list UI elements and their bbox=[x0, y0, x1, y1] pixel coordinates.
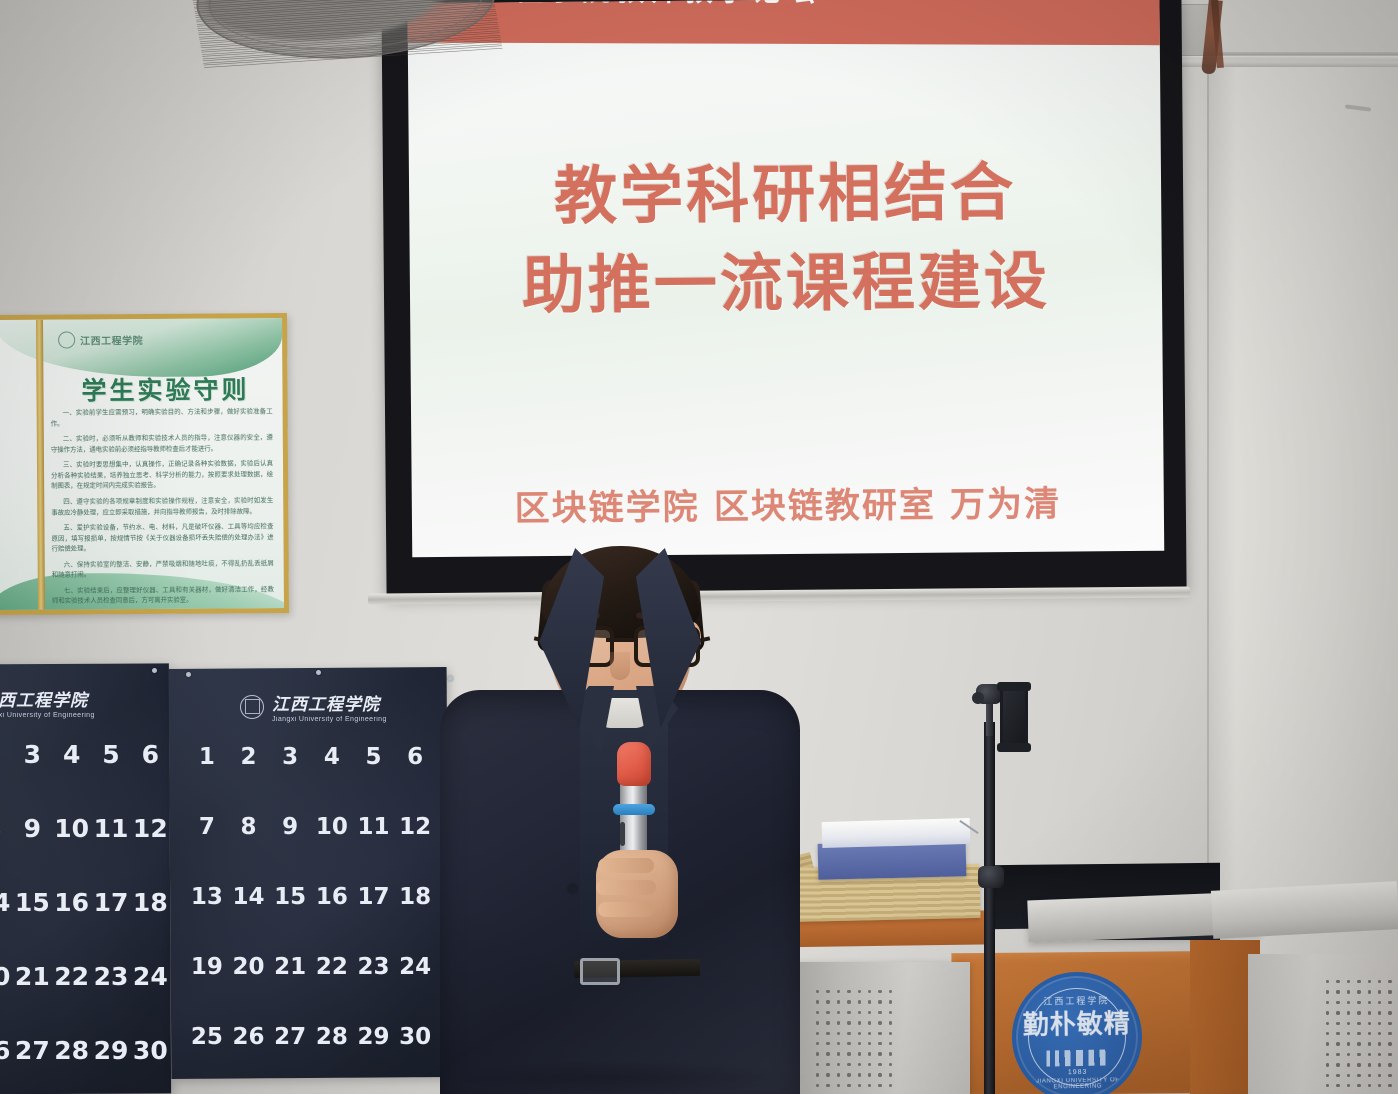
seat-number: 2 bbox=[228, 744, 270, 770]
nose bbox=[610, 652, 630, 680]
wall-mounting-rail-lower bbox=[1160, 62, 1398, 67]
seat-number: 15 bbox=[13, 888, 52, 917]
seat-number: 16 bbox=[311, 884, 353, 910]
seat-number: 12 bbox=[394, 814, 436, 840]
seat-number: 9 bbox=[13, 814, 52, 843]
seat-banner-left-logo-cn: 江西工程学院 bbox=[0, 691, 88, 711]
seat-number: 30 bbox=[131, 1036, 170, 1065]
university-seal-icon bbox=[240, 695, 264, 719]
seat-number: 8 bbox=[0, 814, 13, 843]
mic-stand-upper-pole bbox=[986, 700, 993, 736]
seat-banner-right-logo-en: Jiangxi University of Engineering bbox=[272, 716, 387, 723]
seat-number: 11 bbox=[353, 814, 395, 840]
emblem-motto: 勤朴敏精 bbox=[1016, 1011, 1138, 1040]
seat-number: 27 bbox=[13, 1036, 52, 1065]
seat-number: 21 bbox=[13, 962, 52, 991]
seat-number: 30 bbox=[394, 1024, 436, 1050]
seat-number: 24 bbox=[394, 954, 436, 980]
seat-banner-right-logo-cn: 江西工程学院 bbox=[272, 695, 380, 715]
poster-rule-item: 六、保持实验室的整洁、安静，严禁吸烟和随地吐痰，不得乱扔乱丢纸屑和随意打闹。 bbox=[52, 558, 274, 581]
seat-number: 6 bbox=[394, 744, 436, 770]
seat-number: 11 bbox=[91, 814, 130, 843]
seat-number: 10 bbox=[52, 814, 91, 843]
poster-rule-item: 五、爱护实验设备，节约水、电、材料，凡是破坏仪器、工具等均应检查原因，填写报损单… bbox=[51, 521, 273, 554]
seat-number: 19 bbox=[186, 954, 228, 980]
seat-number: 7 bbox=[186, 814, 228, 840]
seat-number: 21 bbox=[269, 954, 311, 980]
seat-number: 6 bbox=[131, 740, 170, 769]
microphone-foam-cover bbox=[617, 742, 651, 786]
seat-number: 28 bbox=[311, 1024, 353, 1050]
seat-number: 23 bbox=[91, 962, 130, 991]
university-seal-icon bbox=[58, 331, 75, 348]
microphone-power-switch bbox=[620, 822, 625, 846]
poster-rule-item: 二、实验时，必须听从教师和实验技术人员的指导，注意仪器的安全，遵守操作方法，通电… bbox=[51, 432, 273, 455]
seat-number: 9 bbox=[269, 814, 311, 840]
seat-number: 20 bbox=[0, 962, 13, 991]
mic-stand-height-clamp bbox=[978, 866, 1004, 888]
seat-number-grid-left: 1234567891011121314151617181920212223242… bbox=[0, 740, 170, 1094]
seat-number: 5 bbox=[353, 744, 395, 770]
seat-number: 23 bbox=[353, 954, 395, 980]
seat-number: 13 bbox=[186, 884, 228, 910]
projection-screen: 江西工程学院教师教学论坛 教学科研相结合 助推一流课程建设 区块链学院 区块链教… bbox=[381, 0, 1186, 595]
seat-number: 22 bbox=[311, 954, 353, 980]
poster-rule-item: 一、实验前学生应需预习，明确实验目的、方法和步骤，做好实验准备工作。 bbox=[51, 406, 273, 429]
seat-number-grid-right: 1234567891011121314151617181920212223242… bbox=[186, 744, 436, 1094]
seat-number: 29 bbox=[91, 1036, 130, 1065]
finger bbox=[596, 880, 656, 895]
seat-number: 25 bbox=[186, 1024, 228, 1050]
lecture-room-photo: 江西工程学院教师教学论坛 教学科研相结合 助推一流课程建设 区块链学院 区块链教… bbox=[0, 0, 1398, 1094]
seat-banner-left-header: 江西工程学院 Jiangxi University of Engineering bbox=[0, 686, 95, 719]
seat-number: 10 bbox=[311, 814, 353, 840]
slide-banner-text: 江西工程学院教师教学论坛 bbox=[412, 0, 1165, 11]
slide-subtitle: 区块链学院 区块链教研室 万为清 bbox=[412, 475, 1164, 533]
banner-pin-icon bbox=[316, 670, 321, 675]
student-lab-rules-poster: 江西工程学院 学生实验守则 一、实验前学生应需预习，明确实验目的、方法和步骤，做… bbox=[0, 313, 289, 615]
emblem-skyline-icon bbox=[1042, 1049, 1112, 1066]
seat-number: 3 bbox=[269, 744, 311, 770]
slide-title-line1: 教学科研相结合 bbox=[409, 147, 1162, 243]
slide-canvas: 江西工程学院教师教学论坛 教学科研相结合 助推一流课程建设 区块链学院 区块链教… bbox=[407, 0, 1164, 557]
emblem-arc-top-text: 江西工程学院 bbox=[1015, 993, 1137, 1008]
seat-number: 4 bbox=[52, 740, 91, 769]
poster-rule-item: 七、实验结束后，应整理好仪器、工具和有关器材，做好清洁工作，经教师和实验技术人员… bbox=[52, 584, 274, 607]
mic-stand-pole bbox=[984, 722, 995, 1094]
finger bbox=[598, 902, 654, 917]
slide-title: 教学科研相结合 助推一流课程建设 bbox=[409, 147, 1163, 332]
seat-banner-left-logo-en: Jiangxi University of Engineering bbox=[0, 712, 95, 719]
ceiling-fan-icon bbox=[196, 0, 496, 94]
seat-number: 28 bbox=[52, 1036, 91, 1065]
mic-stand-adjust-knob bbox=[972, 692, 984, 704]
belt-buckle bbox=[580, 958, 620, 985]
seat-number: 17 bbox=[91, 888, 130, 917]
seat-number: 26 bbox=[228, 1024, 270, 1050]
slide-banner-bar: 江西工程学院教师教学论坛 bbox=[407, 0, 1164, 45]
emblem-year: 1983 bbox=[1017, 1068, 1139, 1077]
seat-number: 12 bbox=[131, 814, 170, 843]
poster-frame-divider bbox=[36, 320, 45, 610]
seat-banner-right-header: 江西工程学院 Jiangxi University of Engineering bbox=[240, 690, 387, 723]
banner-pin-icon bbox=[448, 676, 453, 681]
poster-logo-text: 江西工程学院 bbox=[80, 332, 143, 347]
speaker-cabinet-right bbox=[1248, 954, 1398, 1094]
emblem-arc-bottom-text: JIANGXI UNIVERSITY OF ENGINEERING bbox=[1017, 1077, 1139, 1091]
seat-number: 4 bbox=[311, 744, 353, 770]
seat-number: 26 bbox=[0, 1036, 13, 1065]
banner-pin-icon bbox=[186, 672, 191, 677]
seat-number: 3 bbox=[13, 740, 52, 769]
equipment-tray bbox=[1211, 881, 1398, 939]
seat-number: 29 bbox=[353, 1024, 395, 1050]
seat-number: 22 bbox=[52, 962, 91, 991]
poster-rule-item: 三、实验时要思想集中，认真操作，正确记录各种实验数据，实验后认真分析各种实验结果… bbox=[51, 458, 273, 491]
seat-number: 24 bbox=[131, 962, 170, 991]
banner-pin-icon bbox=[152, 668, 157, 673]
slide-title-line2: 助推一流课程建设 bbox=[410, 236, 1163, 332]
seat-number: 15 bbox=[269, 884, 311, 910]
loose-paper-stack bbox=[822, 818, 971, 848]
seat-number: 16 bbox=[52, 888, 91, 917]
seat-number: 14 bbox=[0, 888, 13, 917]
seat-number: 18 bbox=[394, 884, 436, 910]
poster-logo: 江西工程学院 bbox=[58, 331, 143, 349]
seat-number: 18 bbox=[131, 888, 170, 917]
speaker-cabinet-left bbox=[792, 962, 970, 1094]
seat-number: 5 bbox=[91, 740, 130, 769]
floor-shadow bbox=[430, 1060, 810, 1094]
jacket-button bbox=[568, 884, 577, 893]
poster-rule-item: 四、遵守实验的各项规章制度和实验操作规程，注意安全，实验时如发生事故应冷静处理，… bbox=[51, 495, 273, 518]
seat-number: 27 bbox=[269, 1024, 311, 1050]
seat-number: 8 bbox=[228, 814, 270, 840]
poster-title: 学生实验守则 bbox=[50, 370, 280, 408]
finger bbox=[598, 858, 654, 873]
seat-number: 20 bbox=[228, 954, 270, 980]
microphone-color-ring bbox=[613, 804, 655, 815]
poster-rules-list: 一、实验前学生应需预习，明确实验目的、方法和步骤，做好实验准备工作。二、实验时，… bbox=[51, 406, 274, 612]
presenter bbox=[440, 540, 800, 1094]
seat-number: 2 bbox=[0, 740, 13, 769]
seat-number: 17 bbox=[353, 884, 395, 910]
seat-number: 14 bbox=[228, 884, 270, 910]
seat-number: 1 bbox=[186, 744, 228, 770]
phone-holder-clamp bbox=[1000, 686, 1028, 748]
